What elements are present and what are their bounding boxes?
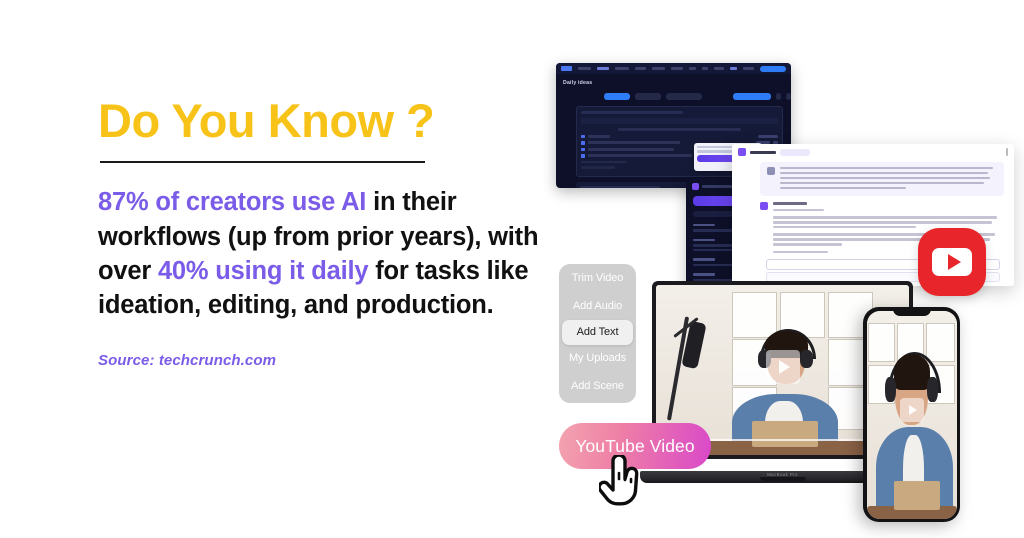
chat-message-user (760, 162, 1004, 196)
chat-mode-toggle[interactable] (780, 149, 810, 156)
hand-cursor-icon (599, 455, 645, 507)
dashboard-tab-researched-ideas[interactable] (666, 93, 702, 100)
chatsonic-logo-icon (738, 148, 746, 156)
row-label (581, 161, 627, 164)
sidebar-brand-label (702, 185, 732, 188)
row-tag (758, 135, 778, 138)
sidebar-section-heading (693, 224, 715, 226)
page-title: Do You Know ? (98, 96, 553, 145)
row-checkbox[interactable] (581, 135, 585, 139)
laptop-trackpad-notch (760, 477, 806, 481)
row-checkbox[interactable] (581, 141, 585, 145)
dashboard-nav-item[interactable] (615, 67, 629, 70)
dashboard-filter-button[interactable] (733, 93, 771, 100)
row-label (588, 148, 674, 151)
dashboard-more-icon[interactable] (786, 93, 791, 100)
youtube-logo-badge (918, 228, 986, 296)
dashboard-tab-date-ideas[interactable] (635, 93, 661, 100)
dashboard-nav-item[interactable] (689, 67, 696, 70)
chat-message-text (780, 167, 997, 191)
dashboard-list-row[interactable] (581, 135, 778, 139)
dashboard-nav-item[interactable] (635, 67, 646, 70)
play-icon (909, 405, 917, 415)
chat-header (732, 144, 1014, 160)
row-checkbox[interactable] (581, 154, 585, 158)
sidebar-section-heading (693, 258, 715, 260)
sidebar-section-heading (693, 239, 715, 241)
row-label (588, 141, 680, 144)
stat-highlight-primary: 87% of creators use AI (98, 188, 366, 216)
row-checkbox[interactable] (581, 148, 585, 152)
youtube-play-frame (932, 248, 972, 276)
row-label (581, 166, 615, 169)
phone-mockup (863, 307, 960, 522)
assistant-heading (773, 202, 807, 205)
source-attribution: Source: techcrunch.com (98, 352, 553, 369)
menu-item-add-audio[interactable]: Add Audio (559, 292, 636, 320)
dashboard-nav-item[interactable] (597, 67, 609, 70)
row-label (588, 154, 692, 157)
chat-more-icon[interactable] (1006, 148, 1008, 156)
assistant-avatar (760, 202, 768, 210)
menu-item-add-text[interactable]: Add Text (562, 320, 633, 345)
play-icon (948, 254, 961, 270)
user-avatar (767, 167, 775, 175)
play-button-overlay[interactable] (900, 398, 924, 422)
text-panel: Do You Know ? 87% of creators use AI in … (98, 96, 553, 369)
dashboard-logo-icon (561, 66, 572, 71)
phone-notch (893, 307, 931, 316)
dashboard-nav-item[interactable] (578, 67, 590, 70)
dashboard-nav-item[interactable] (743, 67, 754, 70)
row-label (588, 135, 610, 138)
dashboard-page-title: Daily ideas (556, 74, 791, 86)
dashboard-tab-new-ideas[interactable] (604, 93, 630, 100)
dashboard-tabs (556, 86, 791, 100)
dashboard-nav-badge-pro[interactable] (730, 67, 737, 70)
chatsonic-logo-icon (692, 183, 699, 190)
dashboard-cta-button[interactable] (760, 66, 786, 72)
menu-item-my-uploads[interactable]: My Uploads (559, 345, 636, 373)
title-divider (100, 161, 425, 163)
phone-screen[interactable] (867, 311, 957, 519)
stat-highlight-secondary: 40% using it daily (158, 257, 368, 285)
product-mockup-composite: Daily ideas (540, 0, 1024, 538)
menu-item-add-scene[interactable]: Add Scene (559, 372, 636, 400)
play-icon (779, 360, 790, 374)
body-copy: 87% of creators use AI in their workflow… (98, 185, 553, 322)
dashboard-card-input[interactable] (581, 118, 778, 124)
editor-options-menu: Trim Video Add Audio Add Text My Uploads… (559, 264, 636, 403)
dashboard-nav-item[interactable] (714, 67, 724, 70)
chat-brand-label (750, 151, 776, 154)
dashboard-sort-icon[interactable] (776, 93, 781, 100)
dashboard-topbar (556, 63, 791, 74)
menu-item-trim-video[interactable]: Trim Video (559, 264, 636, 292)
dashboard-card2-title (580, 186, 660, 188)
dashboard-nav-item[interactable] (702, 67, 709, 70)
play-button-overlay[interactable] (766, 350, 800, 384)
dashboard-card-title (581, 111, 683, 114)
sidebar-section-heading (693, 273, 715, 275)
dashboard-nav-item[interactable] (652, 67, 665, 70)
dashboard-card-subnav (618, 128, 740, 131)
dashboard-nav-item[interactable] (671, 67, 683, 70)
